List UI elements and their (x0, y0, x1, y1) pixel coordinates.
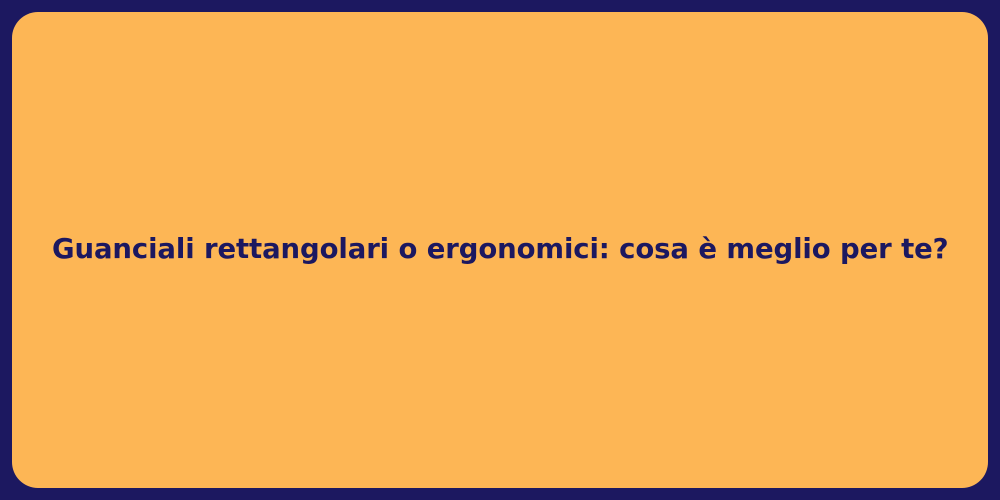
banner-headline: Guanciali rettangolari o ergonomici: cos… (12, 232, 988, 268)
banner-card: Guanciali rettangolari o ergonomici: cos… (12, 12, 988, 488)
banner-frame: Guanciali rettangolari o ergonomici: cos… (0, 0, 1000, 500)
